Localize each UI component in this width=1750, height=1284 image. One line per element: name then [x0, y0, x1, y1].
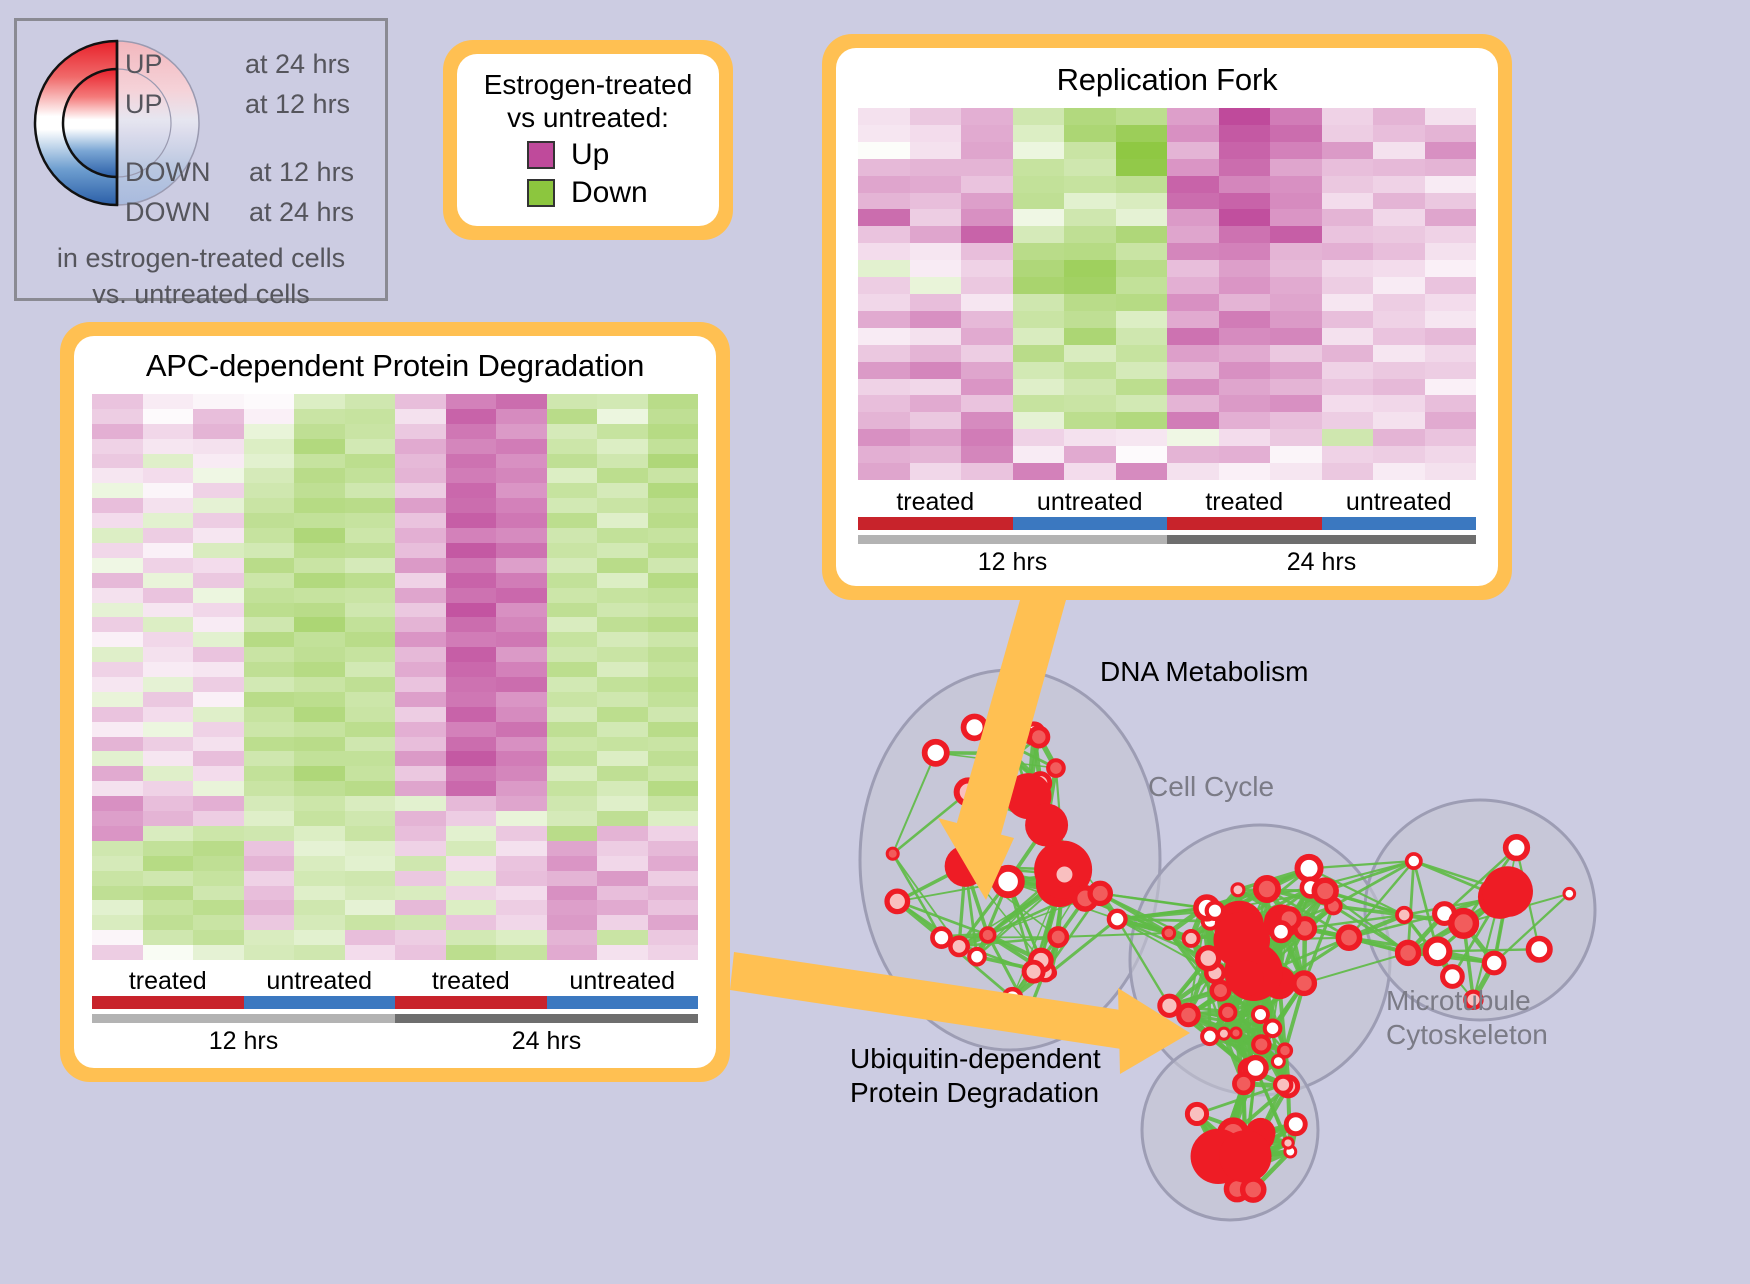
heatmap-cell: [345, 915, 396, 930]
heatmap-cell: [1116, 429, 1168, 446]
network-node[interactable]: [1283, 1138, 1293, 1148]
heatmap-cell: [395, 841, 446, 856]
heatmap-cell: [143, 692, 194, 707]
network-node[interactable]: [1506, 837, 1528, 859]
heatmap-cell: [294, 900, 345, 915]
network-node[interactable]: [1338, 927, 1359, 948]
heatmap-cell: [395, 439, 446, 454]
heatmap-cell: [395, 886, 446, 901]
heatmap-cell: [446, 573, 497, 588]
condition-bar-segment: [1167, 517, 1322, 530]
network-node[interactable]: [1528, 939, 1550, 961]
heatmap-cell: [1219, 125, 1271, 142]
heatmap-cell: [244, 737, 295, 752]
heatmap-cell: [92, 528, 143, 543]
heatmap-cell: [446, 826, 497, 841]
heatmap-cell: [597, 558, 648, 573]
heatmap-cell: [92, 751, 143, 766]
heatmap-cell: [910, 277, 962, 294]
heatmap-cell: [244, 722, 295, 737]
network-node[interactable]: [1030, 728, 1048, 746]
heatmap-cell: [244, 945, 295, 960]
network-node[interactable]: [1184, 931, 1199, 946]
heatmap-cell: [648, 409, 699, 424]
heatmap-cell: [1270, 176, 1322, 193]
heatmap-cell: [193, 662, 244, 677]
network-node[interactable]: [995, 868, 1021, 894]
heatmap-cell: [395, 811, 446, 826]
heatmap-cell: [858, 446, 910, 463]
network-node[interactable]: [1163, 927, 1175, 939]
network-graph: [790, 610, 1750, 1279]
heatmap-cell: [92, 692, 143, 707]
heatmap-cell: [597, 737, 648, 752]
heatmap-cell: [345, 677, 396, 692]
heatmap-cell: [547, 662, 598, 677]
network-node[interactable]: [1212, 982, 1229, 999]
heatmap-cell: [193, 468, 244, 483]
heatmap-cell: [244, 454, 295, 469]
heatmap-cell: [597, 811, 648, 826]
heatmap-cell: [244, 826, 295, 841]
heatmap-cell: [1373, 395, 1425, 412]
heatmap-cell: [345, 424, 396, 439]
heatmap-cell: [143, 886, 194, 901]
network-node[interactable]: [1265, 1021, 1281, 1037]
heatmap-cell: [244, 692, 295, 707]
heatmap-cell: [597, 588, 648, 603]
heatmap-cell: [961, 176, 1013, 193]
heatmap-cell: [446, 483, 497, 498]
heatmap-cell: [193, 394, 244, 409]
heatmap-cell: [1219, 260, 1271, 277]
heatmap-cell: [1219, 159, 1271, 176]
network-node[interactable]: [1213, 912, 1270, 969]
heatmap-cell: [648, 871, 699, 886]
heatmap-cell: [597, 528, 648, 543]
heatmap-cell: [1322, 463, 1374, 480]
heatmap-cell: [1219, 226, 1271, 243]
heatmap-cell: [961, 362, 1013, 379]
network-node[interactable]: [1187, 1104, 1206, 1123]
heatmap-cell: [294, 543, 345, 558]
heatmap-cell: [910, 142, 962, 159]
heatmap-cell: [961, 243, 1013, 260]
heatmap-cell: [244, 751, 295, 766]
heatmap-cell: [648, 468, 699, 483]
heatmap-cell: [1167, 379, 1219, 396]
heatmap-cell: [1116, 142, 1168, 159]
heatmap-cell: [1013, 345, 1065, 362]
heatmap-cell: [1064, 243, 1116, 260]
heatmap-cell: [143, 826, 194, 841]
heatmap-cell: [446, 454, 497, 469]
network-node[interactable]: [1426, 939, 1450, 963]
heatmap-cell: [597, 751, 648, 766]
network-node[interactable]: [1179, 1005, 1199, 1025]
heatmap-cell: [395, 826, 446, 841]
network-node[interactable]: [1398, 942, 1419, 963]
heatmap-cell: [961, 311, 1013, 328]
heatmap-cell: [910, 362, 962, 379]
cluster-label-ubiquitin-degradation: Ubiquitin-dependent Protein Degradation: [850, 1042, 1101, 1109]
heatmap-cell: [496, 558, 547, 573]
apc-degradation-inner: APC-dependent Protein Degradation treate…: [74, 336, 716, 1068]
heatmap-cell: [1322, 311, 1374, 328]
heatmap-cell: [496, 528, 547, 543]
heatmap-cell: [1064, 294, 1116, 311]
heatmap-cell: [1064, 176, 1116, 193]
network-node[interactable]: [1275, 1077, 1291, 1093]
heatmap-cell: [143, 468, 194, 483]
heatmap-cell: [910, 226, 962, 243]
heatmap-cell: [648, 692, 699, 707]
network-node[interactable]: [1054, 864, 1076, 886]
heatmap-cell: [547, 617, 598, 632]
network-node[interactable]: [1272, 1056, 1284, 1068]
heatmap-cell: [345, 707, 396, 722]
legend-key-title-line1: Estrogen-treated: [457, 68, 719, 101]
heatmap-cell: [1425, 463, 1477, 480]
heatmap-cell: [395, 737, 446, 752]
heatmap-cell: [395, 632, 446, 647]
network-node[interactable]: [1017, 726, 1031, 740]
heatmap-cell: [1064, 159, 1116, 176]
heatmap-cell: [345, 543, 396, 558]
heatmap-cell: [345, 871, 396, 886]
heatmap-cell: [1116, 311, 1168, 328]
heatmap-cell: [244, 647, 295, 662]
heatmap-cell: [1116, 345, 1168, 362]
network-node[interactable]: [945, 845, 986, 886]
cluster-label-microtubule-cytoskeleton: Microtubule Cytoskeleton: [1386, 984, 1548, 1051]
heatmap-cell: [858, 362, 910, 379]
heatmap-cell: [1013, 226, 1065, 243]
heatmap-cell: [1270, 379, 1322, 396]
heatmap-cell: [597, 543, 648, 558]
heatmap-cell: [345, 454, 396, 469]
heatmap-cell: [193, 483, 244, 498]
heatmap-cell: [193, 528, 244, 543]
network-node[interactable]: [1219, 1130, 1271, 1182]
network-node[interactable]: [1025, 804, 1068, 847]
heatmap-cell: [597, 424, 648, 439]
network-node[interactable]: [1024, 962, 1043, 981]
heatmap-cell: [496, 617, 547, 632]
legend-key-panel: Estrogen-treated vs untreated: Up Down: [443, 40, 733, 240]
heatmap-cell: [910, 243, 962, 260]
heatmap-cell: [193, 647, 244, 662]
network-node[interactable]: [964, 716, 986, 738]
heatmap-cell: [244, 841, 295, 856]
replication-fork-inner: Replication Fork treateduntreatedtreated…: [836, 48, 1498, 586]
heatmap-cell: [395, 513, 446, 528]
heatmap-cell: [1167, 446, 1219, 463]
heatmap-cell: [547, 796, 598, 811]
network-node[interactable]: [1048, 760, 1064, 776]
heatmap-cell: [597, 409, 648, 424]
heatmap-cell: [193, 841, 244, 856]
legend-row-3-time: at 24 hrs: [249, 197, 354, 228]
heatmap-cell: [1013, 429, 1065, 446]
heatmap-cell: [858, 159, 910, 176]
heatmap-cell: [858, 429, 910, 446]
heatmap-cell: [547, 856, 598, 871]
heatmap-cell: [910, 193, 962, 210]
heatmap-cell: [597, 871, 648, 886]
heatmap-cell: [446, 617, 497, 632]
heatmap-cell: [193, 424, 244, 439]
heatmap-cell: [92, 722, 143, 737]
heatmap-cell: [294, 647, 345, 662]
network-node[interactable]: [1207, 903, 1223, 919]
heatmap-cell: [1219, 345, 1271, 362]
heatmap-cell: [1013, 193, 1065, 210]
heatmap-cell: [1219, 193, 1271, 210]
network-node[interactable]: [981, 928, 995, 942]
heatmap-cell: [294, 677, 345, 692]
heatmap-cell: [395, 856, 446, 871]
heatmap-cell: [1270, 412, 1322, 429]
heatmap-cell: [446, 439, 497, 454]
network-node[interactable]: [994, 698, 1009, 713]
heatmap-cell: [961, 260, 1013, 277]
heatmap-cell: [143, 454, 194, 469]
heatmap-cell: [1373, 328, 1425, 345]
network-node[interactable]: [1220, 1005, 1235, 1020]
heatmap-cell: [143, 811, 194, 826]
network-node[interactable]: [1160, 996, 1179, 1015]
heatmap-cell: [597, 632, 648, 647]
heatmap-cell: [244, 677, 295, 692]
network-node[interactable]: [1272, 923, 1290, 941]
heatmap-cell: [1064, 345, 1116, 362]
network-node[interactable]: [1228, 961, 1264, 997]
ubiquitin-line2: Protein Degradation: [850, 1077, 1099, 1108]
heatmap-cell: [1425, 362, 1477, 379]
heatmap-cell: [193, 707, 244, 722]
heatmap-cell: [345, 751, 396, 766]
heatmap-cell: [294, 603, 345, 618]
heatmap-cell: [1167, 395, 1219, 412]
heatmap-cell: [858, 294, 910, 311]
network-node[interactable]: [1231, 1028, 1241, 1038]
network-node[interactable]: [1294, 973, 1315, 994]
network-node[interactable]: [1253, 1036, 1269, 1052]
network-node[interactable]: [1253, 1007, 1268, 1022]
heatmap-cell: [597, 603, 648, 618]
legend-row-0-time: at 24 hrs: [245, 49, 350, 80]
heatmap-cell: [92, 871, 143, 886]
network-node[interactable]: [1198, 948, 1219, 969]
heatmap-cell: [648, 677, 699, 692]
heatmap-cell: [92, 707, 143, 722]
heatmap-cell: [143, 603, 194, 618]
heatmap-cell: [597, 796, 648, 811]
heatmap-cell: [496, 632, 547, 647]
network-node[interactable]: [925, 742, 947, 764]
heatmap-cell: [910, 379, 962, 396]
heatmap-cell: [648, 513, 699, 528]
heatmap-cell: [244, 781, 295, 796]
legend-row-1-time: at 12 hrs: [245, 89, 350, 120]
heatmap-cell: [395, 528, 446, 543]
heatmap-cell: [395, 498, 446, 513]
heatmap-cell: [244, 796, 295, 811]
heatmap-cell: [496, 826, 547, 841]
time-bar-segment: [1167, 535, 1476, 544]
heatmap-cell: [1425, 379, 1477, 396]
heatmap-cell: [1373, 193, 1425, 210]
up-label: Up: [571, 138, 609, 172]
heatmap-cell: [547, 588, 598, 603]
heatmap-cell: [193, 498, 244, 513]
heatmap-cell: [345, 766, 396, 781]
heatmap-cell: [547, 766, 598, 781]
heatmap-cell: [496, 543, 547, 558]
network-node[interactable]: [887, 891, 908, 912]
heatmap-cell: [446, 468, 497, 483]
network-node[interactable]: [1314, 880, 1336, 902]
heatmap-cell: [910, 125, 962, 142]
network-node[interactable]: [1232, 884, 1244, 896]
down-label: Down: [571, 176, 648, 210]
network-node[interactable]: [1050, 928, 1067, 945]
network-node[interactable]: [1202, 1029, 1217, 1044]
heatmap-cell: [294, 945, 345, 960]
network-node[interactable]: [1397, 908, 1411, 922]
heatmap-cell: [193, 692, 244, 707]
heatmap-cell: [1116, 159, 1168, 176]
network-node[interactable]: [1407, 854, 1421, 868]
heatmap-cell: [92, 677, 143, 692]
heatmap-cell: [1270, 260, 1322, 277]
network-node[interactable]: [1451, 911, 1476, 936]
heatmap-cell: [1219, 412, 1271, 429]
condition-bar-segment: [1322, 517, 1477, 530]
heatmap-cell: [446, 737, 497, 752]
time-bar-segment: [92, 1014, 395, 1023]
network-node[interactable]: [1090, 883, 1110, 903]
heatmap-cell: [961, 108, 1013, 125]
heatmap-cell: [92, 841, 143, 856]
heatmap-cell: [1373, 260, 1425, 277]
heatmap-cell: [345, 945, 396, 960]
network-node[interactable]: [1256, 878, 1278, 900]
network-node[interactable]: [1484, 953, 1504, 973]
heatmap-cell: [597, 394, 648, 409]
heatmap-cell: [597, 886, 648, 901]
condition-bar-segment: [547, 996, 699, 1009]
network-node[interactable]: [1109, 911, 1126, 928]
legend-row-1-label: UP: [125, 89, 163, 120]
heatmap-cell: [1425, 395, 1477, 412]
legend-row-3-label: DOWN: [125, 197, 210, 228]
heatmap-cell: [961, 294, 1013, 311]
heatmap-cell: [1116, 226, 1168, 243]
heatmap-cell: [1270, 159, 1322, 176]
heatmap-cell: [1013, 294, 1065, 311]
heatmap-cell: [92, 915, 143, 930]
heatmap-cell: [294, 781, 345, 796]
heatmap-cell: [858, 412, 910, 429]
heatmap-cell: [1167, 277, 1219, 294]
heatmap-cell: [1425, 176, 1477, 193]
heatmap-cell: [193, 945, 244, 960]
heatmap-cell: [395, 722, 446, 737]
network-node[interactable]: [1004, 989, 1021, 1006]
heatmap-cell: [1167, 362, 1219, 379]
heatmap-cell: [345, 930, 396, 945]
heatmap-cell: [193, 454, 244, 469]
apc-degradation-title: APC-dependent Protein Degradation: [92, 348, 698, 384]
heatmap-cell: [345, 811, 396, 826]
network-node[interactable]: [969, 949, 985, 965]
network-node[interactable]: [950, 938, 967, 955]
heatmap-cell: [648, 915, 699, 930]
network-node[interactable]: [932, 929, 950, 947]
network-node[interactable]: [887, 848, 898, 859]
heatmap-cell: [1270, 193, 1322, 210]
heatmap-cell: [143, 945, 194, 960]
network-node[interactable]: [957, 780, 980, 803]
heatmap-cell: [858, 345, 910, 362]
heatmap-cell: [496, 766, 547, 781]
heatmap-cell: [597, 945, 648, 960]
heatmap-cell: [345, 886, 396, 901]
heatmap-cell: [193, 751, 244, 766]
network-node[interactable]: [1286, 1115, 1305, 1134]
heatmap-cell: [294, 692, 345, 707]
heatmap-cell: [193, 915, 244, 930]
network-node[interactable]: [1218, 1028, 1229, 1039]
network-node[interactable]: [1021, 1003, 1037, 1019]
network-node[interactable]: [1234, 1075, 1252, 1093]
network-node[interactable]: [1297, 857, 1320, 880]
legend-key-item-up: Up: [527, 138, 719, 172]
heatmap-cell: [1322, 429, 1374, 446]
network-node[interactable]: [1564, 888, 1575, 899]
network-node[interactable]: [1006, 748, 1017, 759]
heatmap-cell: [597, 662, 648, 677]
heatmap-cell: [1013, 108, 1065, 125]
heatmap-cell: [345, 632, 396, 647]
heatmap-cell: [547, 677, 598, 692]
heatmap-cell: [1373, 277, 1425, 294]
heatmap-cell: [597, 707, 648, 722]
heatmap-cell: [1425, 345, 1477, 362]
heatmap-cell: [496, 692, 547, 707]
heatmap-cell: [395, 468, 446, 483]
heatmap-cell: [92, 766, 143, 781]
heatmap-cell: [496, 409, 547, 424]
replication-fork-condition-bars: [858, 517, 1476, 530]
heatmap-cell: [345, 588, 396, 603]
heatmap-cell: [244, 543, 295, 558]
time-label: 12 hrs: [858, 548, 1167, 577]
heatmap-cell: [648, 781, 699, 796]
heatmap-cell: [143, 647, 194, 662]
heatmap-cell: [345, 513, 396, 528]
heatmap-cell: [496, 394, 547, 409]
heatmap-cell: [910, 209, 962, 226]
heatmap-cell: [547, 811, 598, 826]
legend-key-inner: Estrogen-treated vs untreated: Up Down: [457, 54, 719, 226]
network-node[interactable]: [1482, 866, 1533, 917]
heatmap-cell: [193, 871, 244, 886]
heatmap-cell: [92, 856, 143, 871]
heatmap-cell: [547, 692, 598, 707]
